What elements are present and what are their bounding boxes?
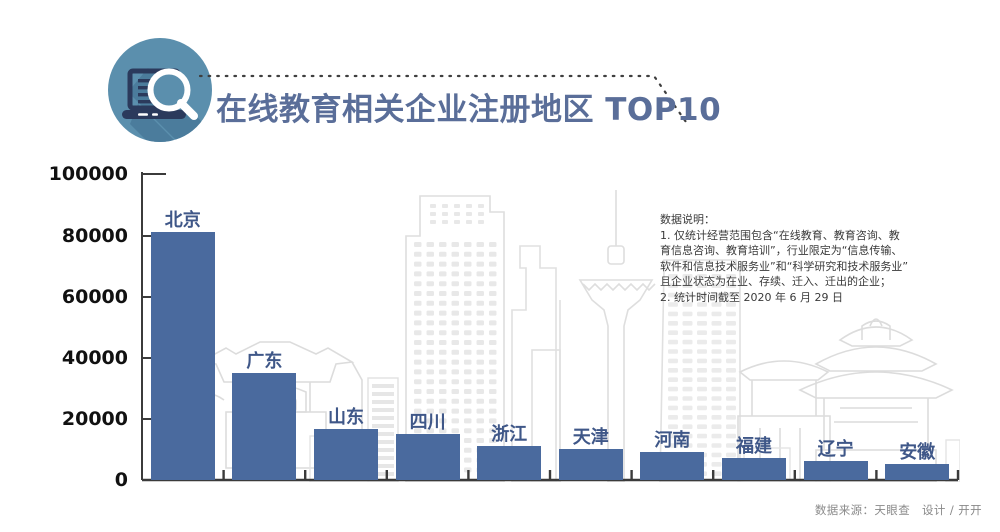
bar-四川[interactable] bbox=[396, 434, 460, 480]
note-line: 且企业状态为在业、存续、迁入、迁出的企业； bbox=[660, 274, 950, 290]
note-line: 2. 统计时间截至 2020 年 6 月 29 日 bbox=[660, 290, 950, 306]
note-line: 软件和信息技术服务业”和“科学研究和技术服务业” bbox=[660, 259, 950, 275]
bar-天津[interactable] bbox=[559, 449, 623, 480]
header-banner: 在线教育相关企业注册地区 TOP10 bbox=[0, 0, 1000, 150]
bar-河南[interactable] bbox=[640, 452, 704, 480]
note-line: 育信息咨询、教育培训”，行业限定为“信息传输、 bbox=[660, 243, 950, 259]
bar-浙江[interactable] bbox=[477, 446, 541, 480]
data-description-note: 数据说明：1. 仅统计经营范围包含“在线教育、教育咨询、教育信息咨询、教育培训”… bbox=[660, 212, 950, 305]
source-credit: 数据来源：天眼查 设计 / 开开 bbox=[815, 502, 982, 518]
bar-label-天津: 天津 bbox=[573, 423, 609, 449]
bar-label-北京: 北京 bbox=[165, 206, 201, 232]
y-tick-label: 80000 bbox=[8, 225, 128, 247]
bar-辽宁[interactable] bbox=[804, 461, 868, 480]
note-line: 1. 仅统计经营范围包含“在线教育、教育咨询、教 bbox=[660, 228, 950, 244]
bar-label-浙江: 浙江 bbox=[491, 420, 527, 446]
y-axis-tick-labels: 100000 80000 60000 40000 20000 0 bbox=[0, 150, 128, 495]
y-tick-label: 0 bbox=[8, 469, 128, 491]
y-tick-label: 60000 bbox=[8, 286, 128, 308]
page-title: 在线教育相关企业注册地区 TOP10 bbox=[216, 84, 721, 129]
y-tick-label: 100000 bbox=[8, 163, 128, 185]
bar-label-安徽: 安徽 bbox=[899, 438, 935, 464]
bar-label-四川: 四川 bbox=[410, 408, 446, 434]
bar-北京[interactable] bbox=[151, 232, 215, 480]
bar-山东[interactable] bbox=[314, 429, 378, 480]
bar-label-山东: 山东 bbox=[328, 403, 364, 429]
bar-label-辽宁: 辽宁 bbox=[818, 435, 854, 461]
bar-广东[interactable] bbox=[232, 373, 296, 480]
bar-福建[interactable] bbox=[722, 458, 786, 480]
note-line: 数据说明： bbox=[660, 212, 950, 228]
bar-label-福建: 福建 bbox=[736, 432, 772, 458]
chart-area: 100000 80000 60000 40000 20000 0 北京广东山东四… bbox=[0, 150, 1000, 495]
bar-label-广东: 广东 bbox=[246, 347, 282, 373]
laptop-search-icon bbox=[108, 38, 212, 142]
y-tick-label: 20000 bbox=[8, 408, 128, 430]
bar-安徽[interactable] bbox=[885, 464, 949, 480]
bar-label-河南: 河南 bbox=[654, 426, 690, 452]
y-tick-label: 40000 bbox=[8, 347, 128, 369]
